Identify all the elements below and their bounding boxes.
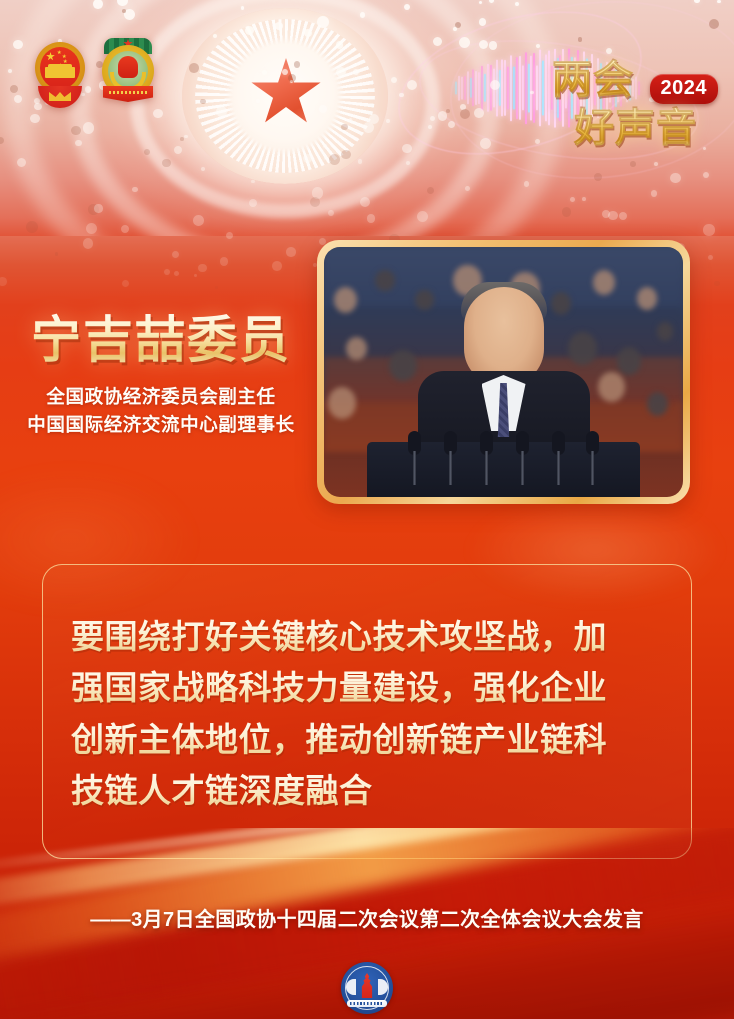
microphone-icon [480, 431, 493, 455]
microphone-icon [552, 431, 565, 455]
quote-line-3: 创新主体地位，推动创新链产业链科 [71, 714, 675, 765]
quote-line-4: 技链人才链深度融合 [71, 765, 675, 816]
speaker-photo-frame [317, 240, 690, 504]
microphone-icon [586, 431, 599, 455]
quote-text: 要围绕打好关键核心技术攻坚战，加 强国家战略科技力量建设，强化企业 创新主体地位… [71, 611, 675, 817]
speaker-name-block: 宁吉喆委员 全国政协经济委员会副主任 中国国际经济交流中心副理事长 [0, 312, 322, 439]
microphone-icon [408, 431, 421, 455]
microphone-icon [516, 431, 529, 455]
speaker-title-1: 全国政协经济委员会副主任 [0, 383, 322, 411]
speaker-name: 宁吉喆委员 [0, 312, 322, 369]
show-logo-line2: 好声音 [574, 108, 697, 148]
microphone-group [324, 247, 683, 497]
microphone-icon [444, 431, 457, 455]
speaker-photo [324, 247, 683, 497]
poster-root: 两会 2024 好声音 宁吉喆委员 全国政协经济委员会副主任 中国国际经济交流中… [0, 0, 734, 1019]
show-logo-line1-row: 两会 2024 [552, 58, 712, 102]
quote-line-2: 强国家战略科技力量建设，强化企业 [71, 662, 675, 713]
cppcc-emblem-icon [100, 36, 156, 112]
cppcc-news-logo-icon [341, 962, 393, 1014]
speaker-titles: 全国政协经济委员会副主任 中国国际经济交流中心副理事长 [0, 383, 322, 439]
show-logo-line1: 两会 [552, 60, 634, 100]
national-emblem-icon [32, 36, 88, 112]
emblem-group [32, 36, 156, 112]
show-logo-line2-row: 好声音 [552, 106, 712, 150]
show-logo: 两会 2024 好声音 [552, 58, 712, 154]
year-badge: 2024 [650, 74, 719, 104]
quote-card: 要围绕打好关键核心技术攻坚战，加 强国家战略科技力量建设，强化企业 创新主体地位… [42, 564, 692, 859]
speaker-title-2: 中国国际经济交流中心副理事长 [0, 411, 322, 439]
attribution-line: ——3月7日全国政协十四届二次会议第二次全体会议大会发言 [0, 903, 734, 932]
quote-line-1: 要围绕打好关键核心技术攻坚战，加 [71, 611, 675, 662]
